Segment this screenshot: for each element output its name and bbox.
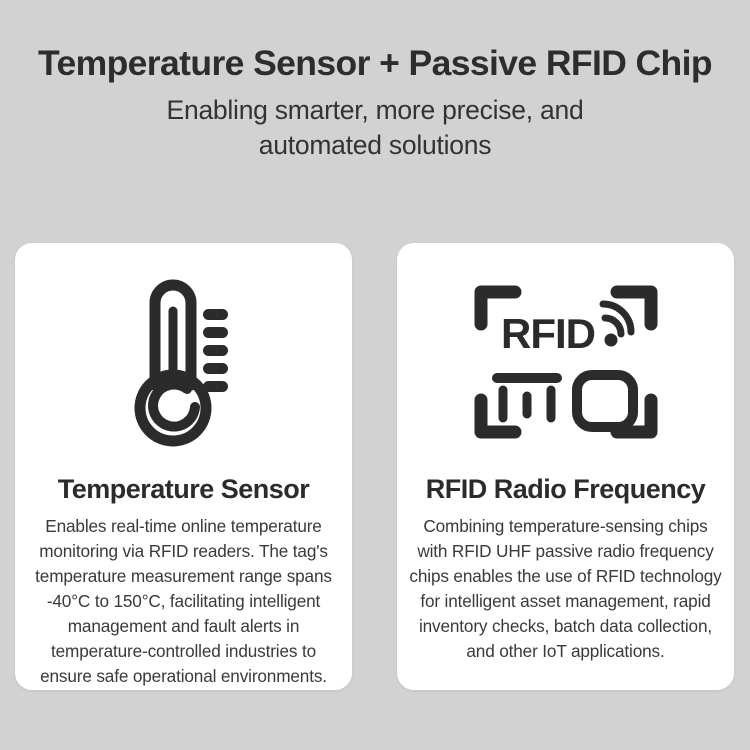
card-body-temperature-sensor: Enables real-time online temperature mon… bbox=[15, 514, 352, 690]
infographic-page: Temperature Sensor + Passive RFID Chip E… bbox=[0, 0, 750, 750]
card-rfid-radio-frequency[interactable]: RFID bbox=[397, 243, 734, 690]
thermometer-scale-ticks bbox=[203, 309, 228, 392]
card-title-rfid-radio-frequency: RFID Radio Frequency bbox=[426, 475, 706, 505]
thermometer-icon-container bbox=[15, 243, 352, 475]
card-title-temperature-sensor: Temperature Sensor bbox=[58, 475, 310, 505]
page-subtitle: Enabling smarter, more precise, and auto… bbox=[0, 93, 750, 162]
rfid-icon-label: RFID bbox=[501, 310, 595, 357]
page-subtitle-line-1: Enabling smarter, more precise, and bbox=[0, 93, 750, 127]
radio-waves-icon bbox=[603, 304, 631, 347]
antenna-glyph bbox=[497, 378, 557, 418]
card-temperature-sensor[interactable]: Temperature Sensor Enables real-time onl… bbox=[15, 243, 352, 690]
page-subtitle-line-2: automated solutions bbox=[0, 128, 750, 162]
page-title: Temperature Sensor + Passive RFID Chip bbox=[0, 44, 750, 82]
rfid-scan-icon: RFID bbox=[471, 272, 661, 452]
header: Temperature Sensor + Passive RFID Chip E… bbox=[0, 0, 750, 162]
chip-square-icon bbox=[577, 375, 633, 427]
card-grid: Temperature Sensor Enables real-time onl… bbox=[15, 243, 735, 690]
rfid-scan-icon-container: RFID bbox=[397, 243, 734, 475]
thermometer-icon bbox=[123, 273, 245, 451]
card-body-rfid-radio-frequency: Combining temperature-sensing chips with… bbox=[397, 514, 734, 665]
